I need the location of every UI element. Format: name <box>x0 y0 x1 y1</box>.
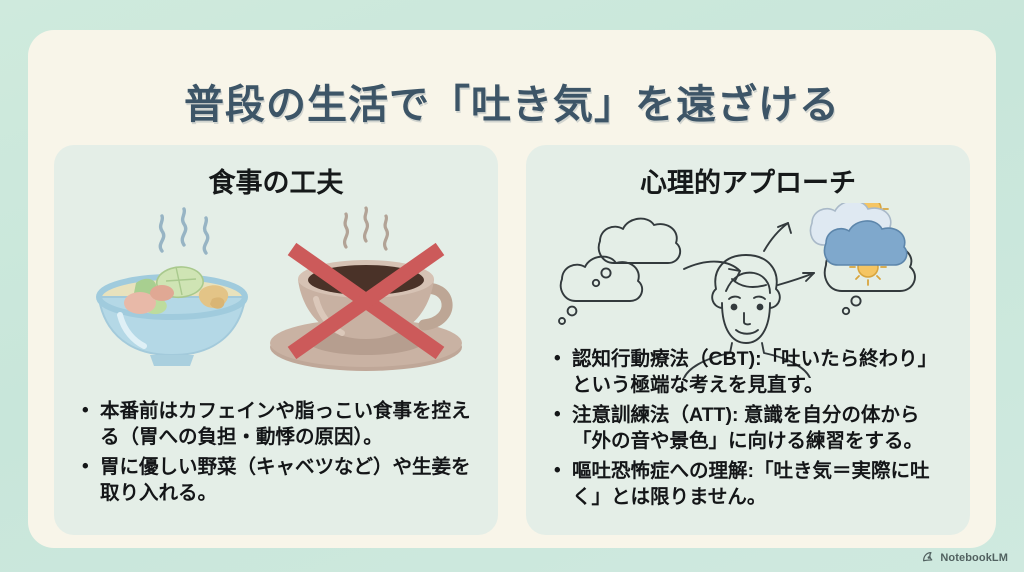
list-item: 嘔吐恐怖症への理解:「吐き気＝実際に吐く」とは限りません。 <box>552 459 956 511</box>
notebooklm-logo-icon <box>922 551 935 564</box>
list-item: 認知行動療法（CBT):「吐いたら終わり」という極端な考えを見直す。 <box>552 347 956 399</box>
content-card: 普段の生活で「吐き気」を遠ざける 食事の工夫 <box>28 30 996 548</box>
list-item: 本番前はカフェインや脂っこい食事を控える（胃への負担・動悸の原因）。 <box>80 399 484 451</box>
panel-psychological-title: 心理的アプローチ <box>526 161 970 200</box>
diet-bullet-list: 本番前はカフェインや脂っこい食事を控える（胃への負担・動悸の原因）。 胃に優しい… <box>80 399 484 511</box>
panel-diet: 食事の工夫 <box>54 145 498 535</box>
notebooklm-watermark: NotebookLM <box>922 551 1008 564</box>
list-item: 胃に優しい野菜（キャベツなど）や生姜を取り入れる。 <box>80 455 484 507</box>
soup-and-coffee-illustration <box>54 203 498 378</box>
watermark-label: NotebookLM <box>940 552 1008 564</box>
slide-canvas: 普段の生活で「吐き気」を遠ざける 食事の工夫 <box>0 0 1024 572</box>
list-item: 注意訓練法（ATT): 意識を自分の体から「外の音や景色」に向ける練習をする。 <box>552 403 956 455</box>
panel-psychological: 心理的アプローチ <box>526 145 970 535</box>
panel-diet-title: 食事の工夫 <box>54 161 498 200</box>
psychological-bullet-list: 認知行動療法（CBT):「吐いたら終わり」という極端な考えを見直す。 注意訓練法… <box>552 347 956 515</box>
page-title: 普段の生活で「吐き気」を遠ざける <box>28 72 996 130</box>
